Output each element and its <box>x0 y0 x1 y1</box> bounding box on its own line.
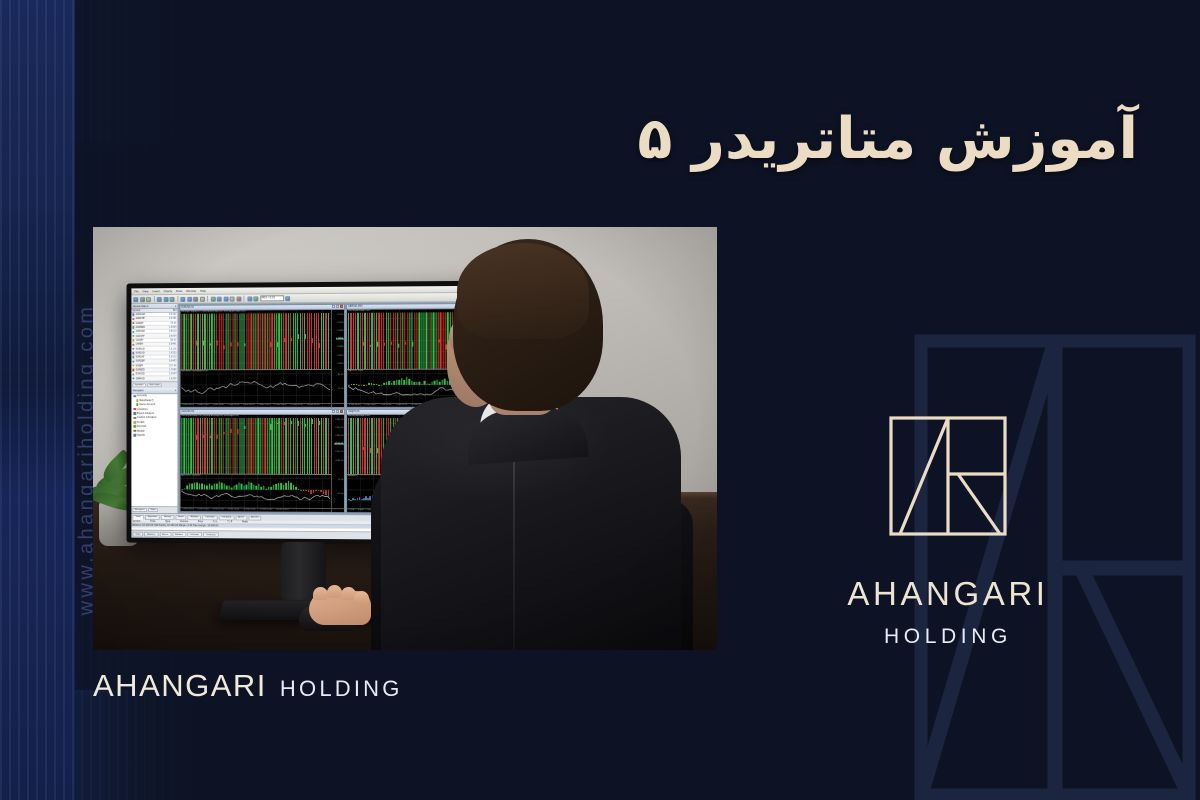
candlestick <box>237 417 238 473</box>
symbol-name: EURCHF <box>136 356 168 359</box>
candlestick <box>216 313 217 369</box>
candlestick <box>290 417 291 473</box>
chart-indicator-label: Stochastic Oscillator(5,3,3) <box>181 370 208 372</box>
candlestick <box>307 313 308 369</box>
chart-indicator-overlay-label: Moving Average(20) Moving Average(50) En… <box>181 415 238 417</box>
toolbar-separator <box>207 296 208 302</box>
time-tick-label: 4 Mar 08:00 <box>198 508 209 510</box>
candlestick <box>207 313 208 369</box>
symbol-bid: 0.9310 <box>169 356 177 359</box>
time-tick-label: 9 Mar 12:00 <box>258 404 269 406</box>
symbol-name: EURAUD <box>136 347 168 350</box>
candlestick <box>195 417 196 473</box>
candlestick <box>304 313 305 369</box>
indicator-line <box>181 374 330 396</box>
candlestick <box>325 418 326 474</box>
candlestick <box>274 313 275 369</box>
symbol-status-icon <box>132 352 134 354</box>
symbol-status-icon <box>132 322 134 324</box>
symbol-bid: 0.6434 <box>169 334 177 337</box>
window-controls[interactable] <box>332 410 343 413</box>
candlestick <box>355 312 356 368</box>
market-watch-tabs[interactable]: Symbols Tick Chart <box>131 381 177 388</box>
photo-finger <box>327 585 342 598</box>
candlestick <box>181 313 182 369</box>
symbol-name: EURCAD <box>136 351 168 354</box>
symbol-status-icon <box>132 348 134 350</box>
photo-person <box>361 237 691 650</box>
candlestick <box>297 417 298 473</box>
terminal-column-header: Volume <box>180 520 188 523</box>
candlestick <box>234 313 235 369</box>
candlestick <box>251 313 252 369</box>
terminal-column-header: T / P <box>227 520 232 523</box>
tab-data[interactable]: Data <box>148 508 158 512</box>
terminal-column-header: Price <box>198 520 203 523</box>
candlestick <box>288 313 289 369</box>
indicator-line <box>181 479 330 501</box>
navigator-item-icon <box>133 417 136 420</box>
candlestick <box>225 313 226 369</box>
candlestick <box>214 313 215 369</box>
time-tick-label: 1 Feb <box>349 509 354 511</box>
candlestick <box>204 313 205 369</box>
time-tick-label: 4 Mar 12:00 <box>198 404 209 406</box>
mt-menu-item[interactable]: Insert <box>152 290 159 293</box>
bar-chart-icon[interactable] <box>157 297 162 302</box>
candle-chart-icon[interactable] <box>163 297 168 302</box>
symbol-name: AUDNZD <box>136 326 168 329</box>
tab-tick-chart[interactable]: Tick Chart <box>147 383 162 387</box>
symbol-name: CADCHF <box>136 334 168 337</box>
symbol-name: CADJPY <box>136 339 170 342</box>
candlestick <box>323 312 324 368</box>
price-tick-label: 2100.00 <box>335 451 343 453</box>
candlestick <box>318 313 319 369</box>
time-tick-label: 12 Mar 00:00 <box>260 509 273 511</box>
candlestick <box>246 417 247 473</box>
candlestick <box>181 417 182 473</box>
candlestick <box>258 313 259 369</box>
price-tick-label: 1.0840 <box>336 346 343 348</box>
candlestick <box>221 417 222 473</box>
candlestick <box>300 417 301 473</box>
toolbar-separator <box>153 296 154 302</box>
symbol-bid: 0.6519 <box>169 330 177 333</box>
candlestick <box>193 313 194 369</box>
mt-menu-item[interactable]: File <box>134 290 138 293</box>
mt-menu-item[interactable]: Charts <box>164 290 172 293</box>
candlestick <box>200 313 201 369</box>
candlestick <box>258 417 259 473</box>
candlestick <box>316 313 317 369</box>
navigator-title-label: Navigator <box>133 389 144 392</box>
column-bid: Bid <box>173 309 176 312</box>
time-tick-label: 14 Mar 06:00 <box>307 404 320 406</box>
candlestick <box>211 313 212 369</box>
navigator-item-label: Services <box>137 425 146 428</box>
symbol-bid: 0.9132 <box>169 313 177 316</box>
trendline-icon[interactable] <box>230 296 235 301</box>
wordmark-name: AHANGARI <box>93 668 267 704</box>
status-tab[interactable]: Calendar <box>187 532 202 537</box>
candlestick <box>191 417 192 473</box>
symbol-bid: 157.46 <box>169 364 177 367</box>
time-tick-label: 8 Mar 16:00 <box>228 508 239 510</box>
symbol-bid: 1.0924 <box>169 326 177 329</box>
candlestick <box>267 417 268 473</box>
candlestick <box>262 417 263 473</box>
candlestick <box>290 313 291 369</box>
candlestick <box>262 313 263 369</box>
candlestick <box>248 313 249 369</box>
chart-price-axis: 2180.002160.002140.002120.002100.002080.… <box>331 415 344 512</box>
indicator-tick-label: 10.00 <box>338 479 344 481</box>
templates-icon[interactable] <box>247 296 252 301</box>
terminal-column-header: Symbol <box>132 519 140 522</box>
symbol-status-icon <box>132 326 134 328</box>
candlestick <box>283 417 284 473</box>
candlestick <box>200 417 201 473</box>
brand-logo-block: AHANGARI HOLDING <box>818 415 1078 649</box>
candlestick <box>328 312 329 368</box>
chart-window[interactable]: EURUSD,H1Bollinger Bands(20) Moving Aver… <box>179 304 345 408</box>
candlestick-series <box>181 417 330 473</box>
candlestick <box>216 417 217 473</box>
candlestick <box>260 417 261 473</box>
symbol-bid: 1.6138 <box>169 347 177 350</box>
close-icon[interactable]: × <box>175 389 177 392</box>
candlestick <box>232 313 233 369</box>
tab-navigator[interactable]: Navigator <box>132 508 147 512</box>
indicator-pane: Awesome Oscillator <box>181 476 330 503</box>
navigator-item-label: Scripts <box>137 421 144 424</box>
navigator-item-icon <box>133 408 136 411</box>
status-tab[interactable]: Alerts <box>159 532 171 537</box>
grid-icon[interactable] <box>253 296 258 301</box>
timeframe-select[interactable]: M15 • 0.01 <box>260 295 284 301</box>
symbol-status-icon <box>132 377 134 379</box>
candlestick <box>353 418 354 474</box>
navigator-item-icon <box>136 399 139 402</box>
candlestick <box>191 313 192 369</box>
candlestick <box>223 417 224 473</box>
candlestick <box>302 417 303 473</box>
candlestick-series <box>181 312 330 368</box>
navigator-item-label: Market <box>137 429 144 432</box>
mt-left-dock: Market Watch × Symbol Bid AUDCAD0.9132AU… <box>131 304 178 513</box>
candlestick <box>253 417 254 473</box>
brand-logo-name: AHANGARI <box>818 575 1078 613</box>
maximize-icon[interactable] <box>336 305 339 308</box>
navigator-tree[interactable]: AccountsMetaTrader 5Demo AccountIndicato… <box>131 394 177 506</box>
status-tab[interactable]: Balance <box>144 532 158 537</box>
window-controls[interactable] <box>332 305 343 308</box>
chart-window-title: XAUUSD,H4 <box>181 410 194 413</box>
navigator-item-label: Signals <box>137 434 145 437</box>
candlestick <box>260 313 261 369</box>
candlestick <box>237 313 238 369</box>
price-tick-label: 1.0820 <box>336 354 343 356</box>
candlestick <box>230 313 231 369</box>
symbol-status-icon <box>132 339 134 341</box>
time-tick-label: 14 Mar 04:00 <box>276 509 289 511</box>
time-tick-label: 7 Mar 00:00 <box>228 404 239 406</box>
candlestick <box>357 418 358 474</box>
symbol-status-icon <box>132 356 134 358</box>
navigator-item-label: Custom Indicators <box>137 416 156 419</box>
current-price-label: 2168.40 <box>334 443 343 445</box>
terminal-column-header: Time <box>150 520 155 523</box>
candlestick <box>309 313 310 369</box>
candlestick <box>272 417 273 473</box>
candlestick <box>297 313 298 369</box>
mt-menu-item[interactable]: Help <box>200 289 206 292</box>
candlestick <box>307 417 308 473</box>
navigator-item-icon <box>133 421 136 424</box>
indicators-icon[interactable] <box>210 296 215 301</box>
candlestick <box>188 313 189 369</box>
zoom-in-icon[interactable] <box>180 296 185 301</box>
symbol-name: AUDJPY <box>136 322 170 325</box>
symbol-name: EURGBP <box>136 360 168 363</box>
symbol-status-icon <box>132 343 134 345</box>
symbol-name: EURUSD <box>136 373 168 376</box>
candlestick <box>223 313 224 369</box>
candlestick <box>279 313 280 369</box>
candlestick <box>228 313 229 369</box>
current-price-label: 1.0859 <box>336 338 344 340</box>
candlestick <box>355 418 356 474</box>
price-tick-label: 2140.00 <box>335 435 343 437</box>
mt-menu-item[interactable]: Tools <box>176 290 182 293</box>
chart-window[interactable]: XAUUSD,H4Moving Average(20) Moving Avera… <box>179 409 345 513</box>
status-tab[interactable]: Ticks <box>132 532 143 537</box>
candlestick <box>202 313 203 369</box>
navigator-item[interactable]: Signals <box>131 433 177 437</box>
candlestick <box>211 417 212 473</box>
candlestick <box>318 417 319 473</box>
indicator-tick-label: 80.00 <box>338 373 344 375</box>
market-watch-title-label: Market Watch <box>133 305 148 308</box>
price-tick-label: 2080.00 <box>335 460 343 462</box>
photo-hair-top <box>457 243 589 339</box>
price-tick-label: 2160.00 <box>335 427 343 429</box>
candlestick <box>184 417 185 473</box>
objects-icon[interactable] <box>217 296 222 301</box>
symbol-status-icon <box>132 314 134 316</box>
toolbar-separator <box>177 296 178 302</box>
symbol-name: EURNZD <box>136 368 168 371</box>
candlestick <box>281 417 282 473</box>
navigator-item-label: MetaTrader 5 <box>139 399 153 402</box>
chart-shift-icon[interactable] <box>200 296 205 301</box>
chart-indicator-label: Awesome Oscillator <box>181 474 200 476</box>
time-tick-label: 5 Mar 18:00 <box>213 404 224 406</box>
close-icon[interactable]: × <box>175 304 177 307</box>
navigator-item-icon <box>133 412 136 415</box>
candlestick <box>286 313 287 369</box>
candlestick <box>311 417 312 473</box>
price-tick-label: 1.0920 <box>336 313 343 315</box>
symbol-name: CHFJPY <box>136 343 168 346</box>
candlestick <box>304 417 305 473</box>
symbol-bid: 1.4253 <box>169 351 177 354</box>
close-icon[interactable] <box>340 305 343 308</box>
candlestick <box>251 417 252 473</box>
candlestick <box>204 417 205 473</box>
navigator-item-icon <box>133 425 136 428</box>
candlestick <box>221 313 222 369</box>
symbol-status-icon <box>132 318 134 320</box>
candlestick <box>218 417 219 473</box>
wordmark-holding: HOLDING <box>280 676 403 702</box>
candlestick <box>239 417 240 473</box>
candlestick <box>350 418 351 474</box>
candlestick <box>269 417 270 473</box>
status-tab[interactable]: Company <box>203 533 219 538</box>
symbol-name: GBPAUD <box>136 377 168 380</box>
chart-time-axis: 2 Mar 04:004 Mar 08:006 Mar 12:008 Mar 1… <box>180 507 344 512</box>
candlestick <box>202 417 203 473</box>
candlestick <box>188 417 189 473</box>
candlestick <box>293 417 294 473</box>
line-chart-icon[interactable] <box>170 297 175 302</box>
chart-indicator-overlay-label: Bollinger Bands(20) Moving Average(50) M… <box>181 311 245 313</box>
candlestick <box>323 418 324 474</box>
candlestick <box>234 417 235 473</box>
candlestick <box>276 417 277 473</box>
symbol-name: AUDUSD <box>136 330 168 333</box>
candlestick <box>195 313 196 369</box>
candlestick <box>314 313 315 369</box>
toolbar-separator <box>243 296 244 302</box>
candlestick <box>239 313 240 369</box>
close-icon[interactable] <box>340 410 343 413</box>
candlestick <box>246 313 247 369</box>
terminal-column-header: Type <box>165 520 170 523</box>
fibonacci-icon[interactable] <box>236 296 241 301</box>
candlestick <box>353 312 354 368</box>
time-tick-label: 12 Mar 00:00 <box>290 404 303 406</box>
period-separator-icon[interactable] <box>285 296 290 301</box>
candlestick <box>186 313 187 369</box>
candlestick <box>214 417 215 473</box>
symbol-bid: 86.02 <box>170 339 176 342</box>
candlestick <box>241 313 242 369</box>
mt-menu-item[interactable]: View <box>142 290 148 293</box>
candlestick <box>269 313 270 369</box>
indicator-tick-label: -10.00 <box>337 493 343 495</box>
terminal-column-header: Profit <box>242 520 248 523</box>
chart-canvas[interactable]: Moving Average(20) Moving Average(50) En… <box>180 414 344 511</box>
candlestick <box>348 312 349 368</box>
candlestick <box>348 418 349 474</box>
price-tick-label: 2180.00 <box>335 419 343 421</box>
candlestick <box>274 417 275 473</box>
time-tick-label: 11 Mar 18:00 <box>274 404 287 406</box>
time-tick-label: 2 Mar 04:00 <box>182 508 193 510</box>
photo-finger <box>354 591 369 604</box>
mt-menu-item[interactable]: Window <box>186 289 196 292</box>
candlestick <box>316 417 317 473</box>
column-symbol: Symbol <box>132 309 173 312</box>
navigator-item-icon <box>133 395 136 398</box>
candlestick <box>321 417 322 473</box>
brand-logo-mark-icon <box>888 415 1008 537</box>
price-tick-label: 1.0800 <box>336 363 343 365</box>
candlestick <box>209 417 210 473</box>
candlestick <box>244 313 245 369</box>
candlestick <box>279 417 280 473</box>
minimize-icon[interactable] <box>332 410 335 413</box>
chart-time-axis: 3 Mar 06:004 Mar 12:005 Mar 18:007 Mar 0… <box>180 402 344 406</box>
time-tick-label: 8 Mar 06:00 <box>243 404 254 406</box>
navigator-item-icon <box>133 430 136 433</box>
zoom-out-icon[interactable] <box>187 296 192 301</box>
autoscroll-icon[interactable] <box>193 296 198 301</box>
candlestick <box>209 313 210 369</box>
candlestick <box>286 417 287 473</box>
save-icon[interactable] <box>146 297 151 302</box>
candlestick <box>267 313 268 369</box>
candlestick <box>357 312 358 368</box>
market-watch-rows[interactable]: AUDCAD0.9132AUDCHF0.5781AUDJPY79.45AUDNZ… <box>131 313 177 381</box>
candlestick <box>328 418 329 474</box>
candlestick <box>193 417 194 473</box>
candlestick <box>281 313 282 369</box>
candlestick <box>295 313 296 369</box>
symbol-bid: 1.9209 <box>169 377 177 380</box>
crosshair-icon[interactable] <box>223 296 228 301</box>
candlestick <box>283 313 284 369</box>
candlestick <box>314 417 315 473</box>
new-chart-icon[interactable] <box>133 297 138 302</box>
maximize-icon[interactable] <box>336 410 339 413</box>
time-tick-label: 10 Mar 20:00 <box>243 509 256 511</box>
background-stripe-edge <box>0 0 75 800</box>
time-tick-label: 5 Mar 08:00 <box>349 404 360 406</box>
time-tick-label: 6 Mar 12:00 <box>213 508 224 510</box>
chart-canvas[interactable]: Bollinger Bands(20) Moving Average(50) M… <box>180 309 344 406</box>
candlestick <box>265 313 266 369</box>
symbol-bid: 1.0859 <box>169 373 177 376</box>
terminal-column-header: S / L <box>213 520 218 523</box>
tab-symbols[interactable]: Symbols <box>132 383 146 387</box>
symbol-bid: 0.8403 <box>169 360 177 363</box>
candlestick <box>253 313 254 369</box>
candlestick <box>186 417 187 473</box>
minimize-icon[interactable] <box>332 305 335 308</box>
symbol-bid: 0.5781 <box>169 317 177 320</box>
status-tab[interactable]: Mailbox <box>172 532 186 537</box>
symbol-status-icon <box>132 365 134 367</box>
symbol-status-icon <box>132 335 134 337</box>
candlestick <box>197 313 198 369</box>
candlestick <box>244 417 245 473</box>
candlestick <box>184 313 185 369</box>
chart-window-title: EURUSD,H1 <box>181 306 194 309</box>
symbol-bid: 1.7645 <box>169 368 177 371</box>
symbol-name: AUDCHF <box>136 317 168 320</box>
candlestick <box>230 417 231 473</box>
open-icon[interactable] <box>140 297 145 302</box>
navigator-item-icon <box>133 434 136 437</box>
candlestick <box>248 417 249 473</box>
photo-finger <box>313 587 328 600</box>
candlestick <box>300 313 301 369</box>
candlestick <box>225 417 226 473</box>
